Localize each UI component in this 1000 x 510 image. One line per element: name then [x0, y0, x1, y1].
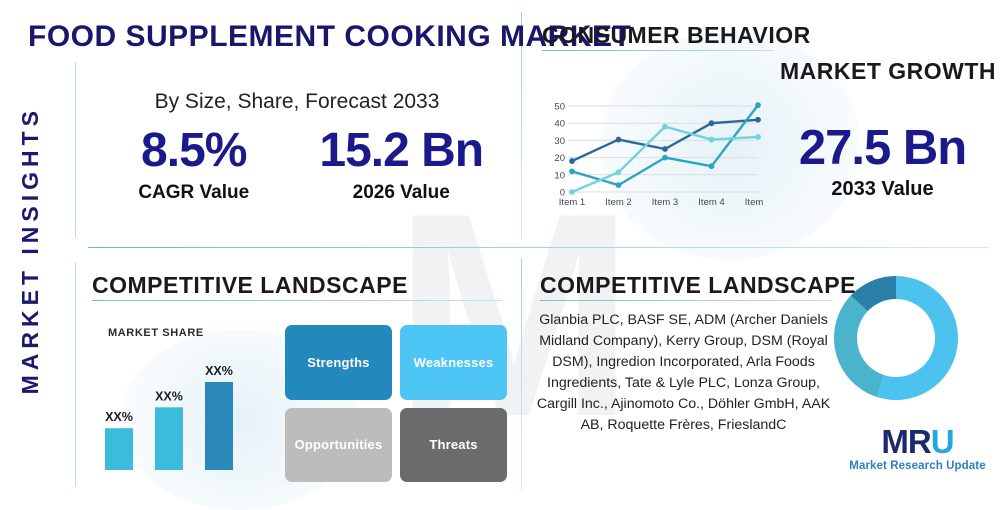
swot-opportunities-label: Opportunities [295, 437, 383, 452]
consumer-behavior-line-chart: 01020304050 Item 1Item 2Item 3Item 4Item… [544, 100, 764, 215]
logo-mark: MRU [881, 425, 953, 459]
swot-threats[interactable]: Threats [400, 408, 507, 483]
svg-text:XX%: XX% [205, 364, 233, 378]
kpi-cagr-label: CAGR Value [90, 182, 298, 204]
page-subtitle: By Size, Share, Forecast 2033 [92, 90, 502, 114]
svg-text:Item 3: Item 3 [652, 197, 678, 208]
section-underline-consumer-behavior [542, 50, 774, 51]
page-title: FOOD SUPPLEMENT COOKING MARKET [28, 20, 508, 54]
market-share-bar-chart: XX%XX%XX% [95, 322, 270, 482]
market-growth-label: 2033 Value [775, 178, 990, 201]
chart-y-axis-labels: 01020304050 [554, 102, 565, 199]
kpi-2026: 15.2 Bn 2026 Value [298, 122, 506, 204]
side-label: MARKET INSIGHTS [0, 0, 62, 500]
section-title-market-growth: MARKET GROWTH [780, 58, 996, 85]
divider-horizontal-main [88, 247, 988, 248]
infographic-canvas: M MARKET INSIGHTS FOOD SUPPLEMENT COOKIN… [0, 0, 1000, 500]
kpi-cagr: 8.5% CAGR Value [90, 122, 298, 204]
market-share-donut-chart [820, 262, 972, 414]
svg-text:10: 10 [554, 170, 565, 181]
kpi-2026-label: 2026 Value [298, 182, 506, 204]
svg-text:XX%: XX% [105, 410, 133, 424]
divider-vertical-left-top [75, 62, 76, 237]
section-underline-competitive-right [540, 300, 832, 301]
swot-weaknesses-label: Weaknesses [414, 355, 494, 370]
logo-mark-main: MR [881, 423, 930, 460]
swot-strengths[interactable]: Strengths [285, 325, 392, 400]
side-label-text: MARKET INSIGHTS [17, 106, 44, 394]
market-growth-value: 27.5 Bn [775, 120, 990, 176]
chart-series-group [569, 102, 761, 195]
chart-x-axis-labels: Item 1Item 2Item 3Item 4Item 5 [559, 197, 764, 208]
svg-text:Item 4: Item 4 [698, 197, 724, 208]
swot-weaknesses[interactable]: Weaknesses [400, 325, 507, 400]
svg-text:Item 2: Item 2 [605, 197, 631, 208]
section-title-consumer-behavior: CONSUMER BEHAVIOR [542, 22, 811, 49]
kpi-2026-value: 15.2 Bn [298, 122, 506, 180]
svg-text:Item 1: Item 1 [559, 197, 585, 208]
svg-text:Item 5: Item 5 [745, 197, 764, 208]
swot-grid: Strengths Weaknesses Opportunities Threa… [285, 325, 507, 482]
company-list: Glanbia PLC, BASF SE, ADM (Archer Daniel… [531, 310, 836, 436]
svg-text:XX%: XX% [155, 389, 183, 403]
logo-mark-accent: U [931, 423, 954, 460]
section-title-competitive-landscape-left: COMPETITIVE LANDSCAPE [92, 272, 408, 299]
svg-text:50: 50 [554, 102, 565, 113]
section-title-competitive-landscape-right: COMPETITIVE LANDSCAPE [540, 272, 856, 299]
brand-logo: MRU Market Research Update [845, 425, 990, 472]
swot-strengths-label: Strengths [307, 355, 369, 370]
svg-text:40: 40 [554, 119, 565, 130]
kpi-cagr-value: 8.5% [90, 122, 298, 180]
divider-vertical-left-bottom [75, 262, 76, 487]
kpi-row: 8.5% CAGR Value 15.2 Bn 2026 Value [90, 122, 505, 204]
section-underline-competitive-left [92, 300, 502, 301]
svg-text:20: 20 [554, 153, 565, 164]
bar-chart-title: MARKET SHARE [108, 327, 204, 339]
swot-threats-label: Threats [429, 437, 477, 452]
svg-text:30: 30 [554, 136, 565, 147]
swot-opportunities[interactable]: Opportunities [285, 408, 392, 483]
donut-hole [857, 299, 935, 377]
logo-tagline: Market Research Update [845, 460, 990, 472]
divider-vertical-center-bottom [521, 258, 522, 490]
